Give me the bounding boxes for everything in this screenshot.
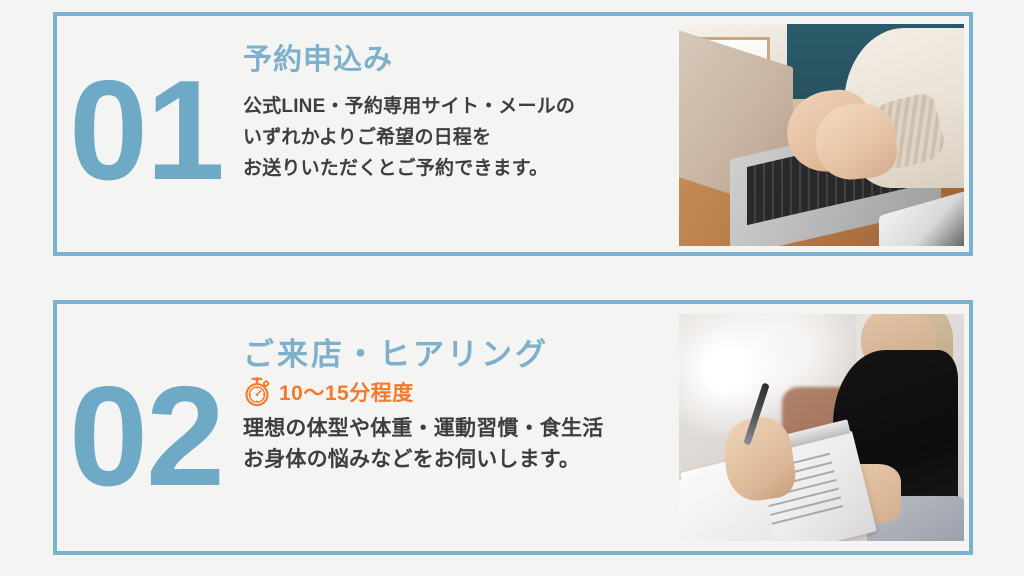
- step-number-02: 02: [69, 366, 223, 508]
- laptop-typing-photo: [679, 24, 964, 246]
- step-title-01: 予約申込み: [243, 42, 663, 78]
- step-card-02: 02 ご来店・ヒアリング 10〜15分程度 理想の体型や体重・運動習慣・食生活 …: [53, 300, 973, 555]
- step-description-line: 理想の体型や体重・運動習慣・食生活: [243, 413, 673, 445]
- consultation-clipboard-photo: [679, 314, 964, 541]
- step-description-01: 公式LINE・予約専用サイト・メールの いずれかよりご希望の日程を お送りいただ…: [243, 92, 663, 184]
- step-title-02: ご来店・ヒアリング: [243, 336, 673, 375]
- step-content-01: 予約申込み 公式LINE・予約専用サイト・メールの いずれかよりご希望の日程を …: [243, 42, 663, 185]
- duration-label: 10〜15分程度: [279, 377, 414, 407]
- duration-row: 10〜15分程度: [243, 377, 673, 407]
- step-number-01: 01: [69, 60, 223, 202]
- photo-laptop-scene: [679, 24, 964, 246]
- photo-consult-scene: [679, 314, 964, 541]
- step-description-02: 理想の体型や体重・運動習慣・食生活 お身体の悩みなどをお伺いします。: [243, 413, 673, 476]
- step-content-02: ご来店・ヒアリング 10〜15分程度 理想の体型や体重・運動習慣・食生活 お身体…: [243, 336, 673, 476]
- step-card-01: 01 予約申込み 公式LINE・予約専用サイト・メールの いずれかよりご希望の日…: [53, 12, 973, 256]
- stopwatch-icon: [243, 377, 271, 407]
- step-description-line: 公式LINE・予約専用サイト・メールの: [243, 92, 663, 123]
- step-description-line: いずれかよりご希望の日程を: [243, 123, 663, 154]
- step-description-line: お身体の悩みなどをお伺いします。: [243, 444, 673, 476]
- step-description-line: お送りいただくとご予約できます。: [243, 154, 663, 185]
